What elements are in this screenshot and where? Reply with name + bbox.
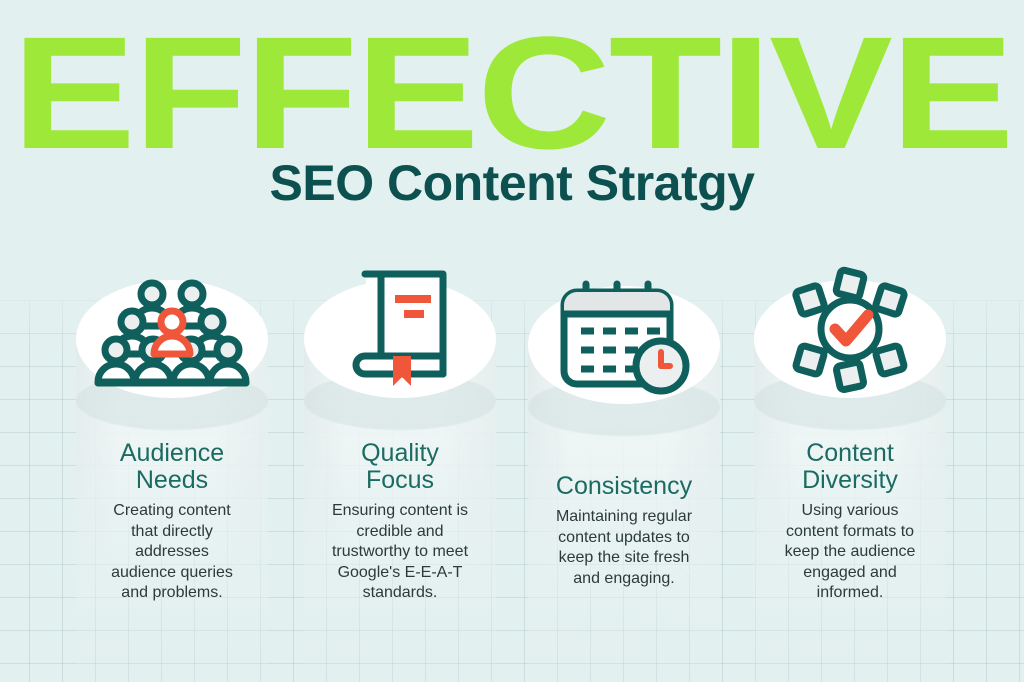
infographic-canvas: EFFECTIVE SEO Content Stratgy — [0, 0, 1024, 682]
pillar-disc-top — [754, 280, 946, 398]
pillar-heading: Audience Needs — [52, 440, 292, 494]
pillar-disc-top — [304, 280, 496, 398]
pillar-heading: Consistency — [504, 446, 744, 500]
pillar-text-block: Consistency Maintaining regular content … — [504, 446, 744, 589]
pillar-text-block: Quality Focus Ensuring content is credib… — [280, 440, 520, 604]
pillar-row: Audience Needs Creating content that dir… — [0, 0, 1024, 682]
pillar-heading: Content Diversity — [730, 440, 970, 494]
pillar-text-block: Content Diversity Using various content … — [730, 440, 970, 604]
pillar-disc-top — [528, 286, 720, 404]
pillar-description: Maintaining regular content updates to k… — [504, 507, 744, 589]
pillar-text-block: Audience Needs Creating content that dir… — [52, 440, 292, 604]
pillar-heading: Quality Focus — [280, 440, 520, 494]
pillar-disc-top — [76, 280, 268, 398]
pillar-description: Using various content formats to keep th… — [730, 501, 970, 604]
pillar-description: Creating content that directly addresses… — [52, 501, 292, 604]
pillar-description: Ensuring content is credible and trustwo… — [280, 501, 520, 604]
